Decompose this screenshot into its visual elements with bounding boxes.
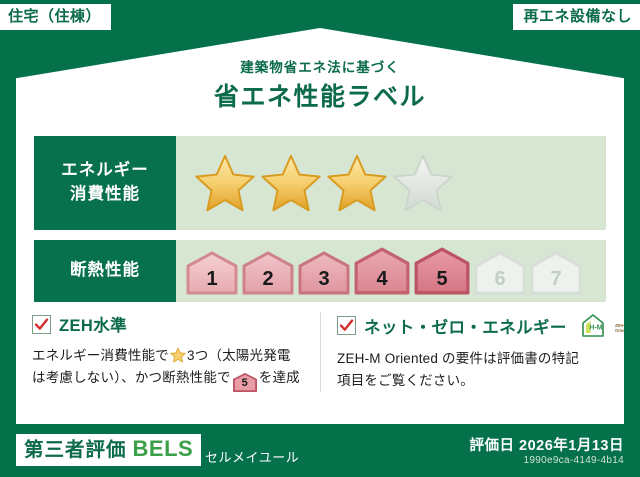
renewable-equipment-tag: 再エネ設備なし: [513, 4, 640, 30]
check-icon: [339, 318, 354, 333]
zeh-checkbox[interactable]: [32, 315, 51, 334]
insulation-badge-value: 3: [318, 269, 329, 295]
insulation-badge-inactive: 7: [530, 251, 582, 295]
energy-performance-value: [176, 136, 606, 230]
star-icon: [194, 153, 256, 213]
insulation-badge-value: 5: [436, 269, 447, 295]
svg-text:H-M: H-M: [589, 325, 602, 332]
zeh-inline-badge-value: 5: [233, 373, 257, 394]
zeh-m-oriented-logo: H-M ZEH-M Oriented: [579, 312, 627, 339]
insulation-badge: 5: [414, 247, 470, 295]
star-icon: [326, 153, 388, 213]
zeh-text-part4: を達成: [259, 370, 300, 385]
insulation-badge-value: 7: [550, 269, 561, 295]
bels-en-label: BELS: [133, 438, 194, 460]
insulation-badge-value: 6: [494, 269, 505, 295]
page-title: 建築物省エネ法に基づく 省エネ性能ラベル: [16, 60, 624, 112]
insulation-badge-value: 4: [376, 269, 387, 295]
star-icon: [260, 153, 322, 213]
label-house-panel: 建築物省エネ法に基づく 省エネ性能ラベル エネルギー 消費性能: [16, 28, 624, 424]
insulation-badge-value: 2: [262, 269, 273, 295]
insulation-performance-row: 断熱性能 1: [34, 240, 606, 302]
star-icon: [170, 347, 186, 363]
insulation-badge: 3: [298, 251, 350, 295]
zeh-text-part1: エネルギー消費性能で: [32, 348, 169, 363]
nzeb-criteria-header: ネット・ゼロ・エネルギー H-M ZEH-M Oriented: [337, 312, 608, 339]
insulation-badge-value: 1: [206, 269, 217, 295]
zeh-title: ZEH水準: [59, 312, 127, 336]
title-subtitle: 建築物省エネ法に基づく: [16, 60, 624, 76]
criteria-section: ZEH水準 エネルギー消費性能で3つ（太陽光発電 は考慮しない）、かつ断熱性能で…: [16, 312, 624, 392]
zeh-description: エネルギー消費性能で3つ（太陽光発電 は考慮しない）、かつ断熱性能で5を達成: [32, 345, 304, 392]
energy-performance-row: エネルギー 消費性能: [34, 136, 606, 230]
owner-name: セルメイユール: [205, 447, 299, 466]
evaluation-date: 評価日 2026年1月13日: [470, 434, 624, 455]
insulation-performance-label: 断熱性能: [34, 240, 176, 302]
insulation-badge: 2: [242, 251, 294, 295]
title-main: 省エネ性能ラベル: [16, 82, 624, 112]
nzeb-text-line2: 項目をご覧ください。: [337, 373, 474, 388]
insulation-label-text: 断熱性能: [70, 259, 140, 283]
footer: 第三者評価 BELS セルメイユール 評価日 2026年1月13日 1990e9…: [0, 424, 640, 477]
bels-jp-label: 第三者評価: [24, 441, 127, 461]
zeh-text-part2: 3つ（太陽光発電: [187, 348, 291, 363]
evaluation-id: 1990e9ca-4149-4b14: [524, 455, 624, 466]
nzeb-text-line1: ZEH-M Oriented の要件は評価書の特記: [337, 351, 579, 366]
building-type-tag: 住宅（住棟）: [0, 4, 111, 30]
nzeb-description: ZEH-M Oriented の要件は評価書の特記 項目をご覧ください。: [337, 348, 608, 392]
zeh-criteria-header: ZEH水準: [32, 312, 304, 336]
star-rating: [194, 153, 454, 213]
insulation-badge-scale: 1 2: [186, 247, 582, 295]
star-icon-empty: [392, 153, 454, 213]
nzeb-title: ネット・ゼロ・エネルギー: [364, 314, 567, 338]
insulation-badge: 1: [186, 251, 238, 295]
zeh-inline-badge: 5: [233, 373, 257, 392]
zeh-text-part3: は考慮しない）、かつ断熱性能で: [32, 370, 231, 385]
nzeb-checkbox[interactable]: [337, 316, 356, 335]
insulation-badge-inactive: 6: [474, 251, 526, 295]
energy-label-line2: 消費性能: [70, 183, 140, 207]
energy-performance-label: エネルギー 消費性能: [34, 136, 176, 230]
bels-badge: 第三者評価 BELS: [16, 434, 201, 466]
svg-text:Oriented: Oriented: [615, 328, 627, 333]
energy-label-line1: エネルギー: [61, 159, 149, 183]
nzeb-criteria-block: ネット・ゼロ・エネルギー H-M ZEH-M Oriented ZEH-M Or…: [320, 312, 624, 392]
insulation-performance-value: 1 2: [176, 240, 606, 302]
insulation-badge: 4: [354, 247, 410, 295]
check-icon: [34, 317, 49, 332]
zeh-criteria-block: ZEH水準 エネルギー消費性能で3つ（太陽光発電 は考慮しない）、かつ断熱性能で…: [16, 312, 320, 392]
